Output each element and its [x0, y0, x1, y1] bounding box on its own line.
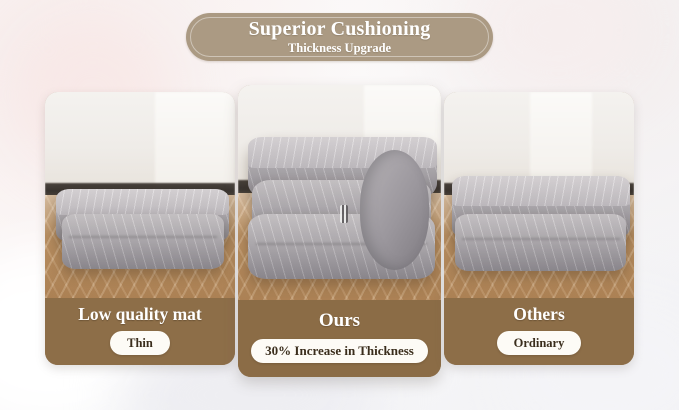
mat-fold-line [69, 236, 218, 238]
mat-layer-lower [62, 214, 224, 270]
banner-subtitle: Thickness Upgrade [288, 41, 391, 55]
banner-title: Superior Cushioning [249, 19, 431, 40]
comparison-card-low-quality-mat: Low quality mat Thin [45, 92, 235, 365]
card-footer: Low quality mat Thin [45, 298, 235, 365]
header-banner: Superior Cushioning Thickness Upgrade [186, 13, 493, 61]
mat-top-face [452, 176, 631, 206]
mat-top-face [56, 189, 229, 215]
infographic-stage: Superior Cushioning Thickness Upgrade Lo… [0, 0, 679, 410]
mat-rolled-end [360, 150, 429, 270]
product-photo-others [444, 92, 634, 298]
comparison-card-ours: Ours 30% Increase in Thickness [238, 85, 441, 377]
mat-fold-line [462, 238, 619, 240]
mat-zipper-detail [340, 205, 348, 223]
background-blur-shape [469, 0, 649, 100]
card-title: Ours [319, 310, 360, 332]
mat-layer-lower [455, 214, 626, 272]
product-photo-ours [238, 85, 441, 300]
card-badge: Thin [110, 331, 170, 355]
product-photo-low-quality-mat [45, 92, 235, 298]
card-footer: Ours 30% Increase in Thickness [238, 300, 441, 377]
card-badge: 30% Increase in Thickness [251, 339, 428, 363]
card-badge: Ordinary [497, 331, 582, 355]
card-footer: Others Ordinary [444, 298, 634, 365]
card-title: Others [513, 304, 565, 324]
comparison-card-others: Others Ordinary [444, 92, 634, 365]
card-title: Low quality mat [78, 304, 201, 324]
photo-wall-panel [155, 92, 235, 191]
